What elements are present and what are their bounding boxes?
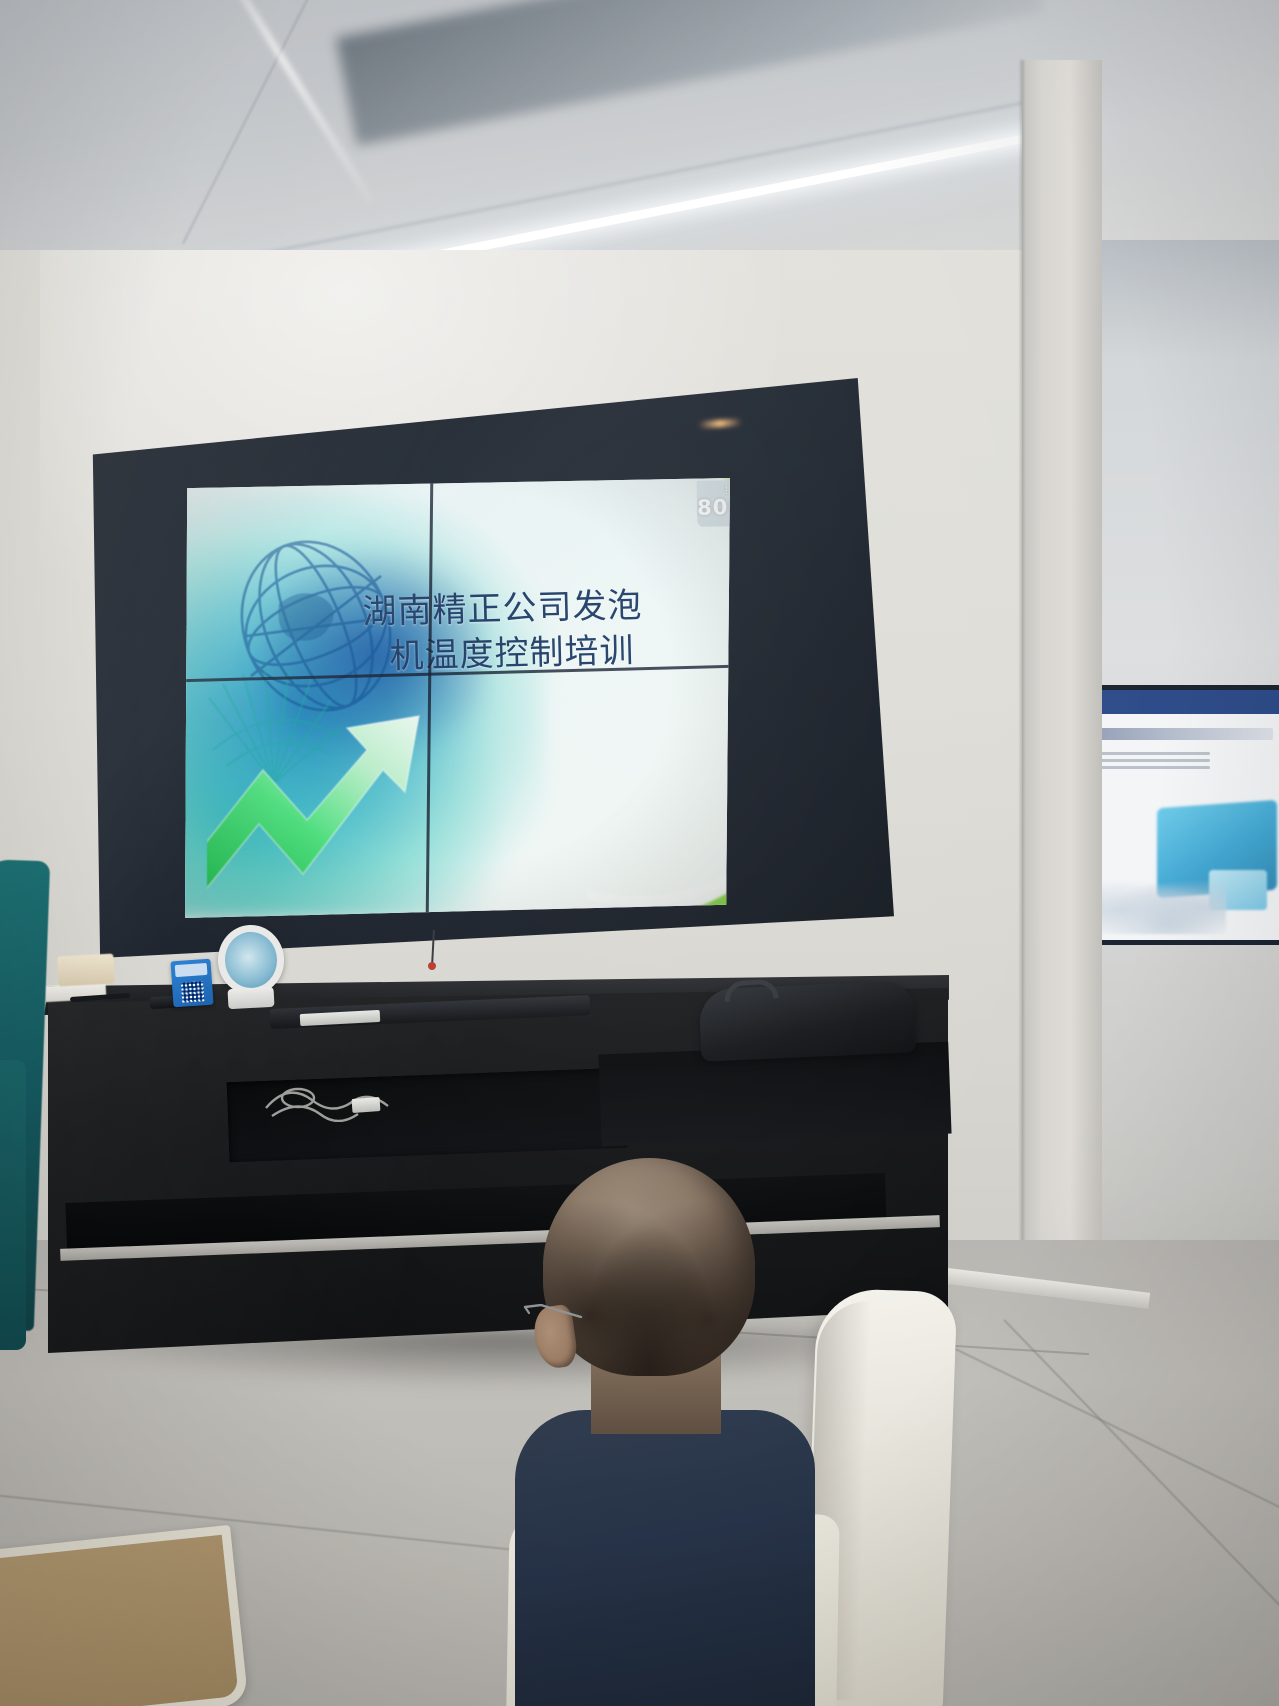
- ceiling-dark-panel: [336, 0, 1044, 146]
- background-display: [1090, 690, 1279, 940]
- ceiling-seam: [182, 0, 320, 244]
- cable-adapter: [352, 1097, 381, 1113]
- photo-scene: 湖南精正公司发泡 机温度控制培训 投屏码 806150: [0, 0, 1279, 1706]
- eyeglasses-icon: [523, 1304, 585, 1318]
- wire-end-knob: [428, 962, 436, 970]
- slide-title-line-1: 湖南精正公司发泡: [362, 588, 643, 632]
- background-display-text-lines: [1100, 752, 1210, 773]
- tissue-box: [57, 954, 114, 987]
- cast-code-value: 806150: [697, 495, 730, 520]
- background-parts-graphic: [1096, 874, 1226, 934]
- floor-mat: [0, 1525, 249, 1706]
- background-room-ceiling: [1096, 240, 1279, 360]
- cast-code-badge: 投屏码 806150: [697, 479, 730, 527]
- qr-card-header: [175, 963, 208, 977]
- background-display-title: [1100, 728, 1273, 740]
- presentation-slide: 湖南精正公司发泡 机温度控制培训 投屏码 806150: [185, 478, 730, 918]
- bystander-shirt: [0, 1060, 26, 1350]
- video-wall-screen[interactable]: 湖南精正公司发泡 机温度控制培训 投屏码 806150: [185, 478, 730, 918]
- viewer-torso: [515, 1410, 815, 1706]
- green-swoosh-graphic: [446, 478, 730, 918]
- desk-fan-base: [228, 987, 275, 1009]
- background-display-header: [1090, 690, 1279, 714]
- qr-code-card[interactable]: [170, 959, 213, 1008]
- qr-code-icon: [181, 981, 204, 1002]
- seated-viewer: [505, 1158, 835, 1706]
